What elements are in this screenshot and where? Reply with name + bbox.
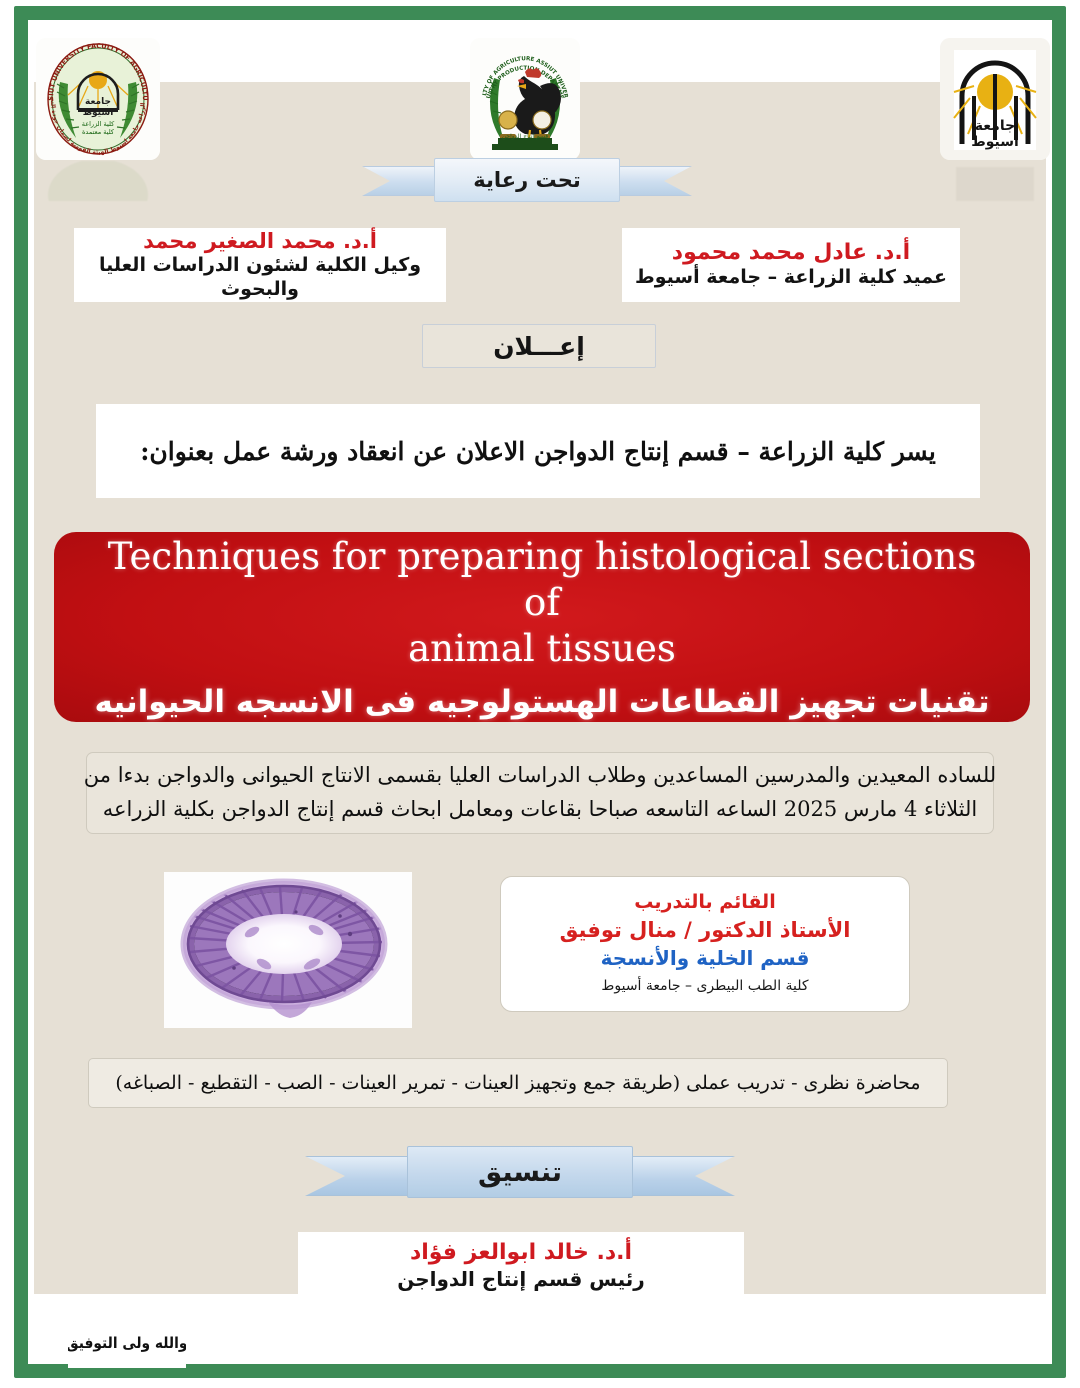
sponsor-ribbon: تحت رعاية (362, 158, 692, 204)
audience-line-2: الثلاثاء 4 مارس 2025 الساعه التاسعه صباح… (103, 793, 978, 827)
assiut-faculty-of-agriculture-logo: جامعة اسيوط كلية الزراعة كلية معتمدة ASS… (36, 38, 160, 160)
trainer-name: الأستاذ الدكتور / منال توفيق (560, 916, 851, 944)
intro-text: يسر كلية الزراعة – قسم إنتاج الدواجن الا… (140, 437, 936, 466)
assiut-university-logo: جامعة اسيوط (940, 38, 1050, 160)
trainer-role: القائم بالتدريب (634, 890, 775, 916)
svg-text:اسيوط: اسيوط (971, 134, 1019, 150)
audience-details-box: للساده المعيدين والمدرسين المساعدين وطلا… (86, 752, 994, 834)
workshop-title-english-line1: Techniques for preparing histological se… (84, 534, 1000, 627)
patron-card-vice-dean: أ.د. محمد الصغير محمد وكيل الكلية لشئون … (74, 228, 446, 302)
coordination-ribbon: تنسيق (305, 1146, 735, 1202)
workshop-title-banner: Techniques for preparing histological se… (54, 532, 1030, 722)
audience-line-1: للساده المعيدين والمدرسين المساعدين وطلا… (84, 759, 996, 793)
patron-dean-title: عميد كلية الزراعة – جامعة أسيوط (635, 266, 947, 290)
faculty-of-agriculture-seal-icon: جامعة اسيوط كلية الزراعة كلية معتمدة ASS… (36, 38, 160, 160)
announcement-plate-label: إعـــلان (493, 332, 585, 361)
patron-card-dean: أ.د. عادل محمد محمود عميد كلية الزراعة –… (622, 228, 960, 302)
poster-root: جامعة اسيوط كلية الزراعة كلية معتمدة ASS… (0, 0, 1080, 1388)
svg-text:اسيوط: اسيوط (83, 108, 114, 118)
poultry-production-department-logo: FACULTY OF AGRICULTURE ASSIUT UNIVERSITY… (470, 38, 580, 160)
coordination-ribbon-label: تنسيق (478, 1157, 562, 1188)
workshop-title-english: Techniques for preparing histological se… (84, 534, 1000, 673)
patron-vice-dean-title: وكيل الكلية لشئون الدراسات العليا والبحو… (74, 254, 446, 302)
poultry-rooster-seal-icon: FACULTY OF AGRICULTURE ASSIUT UNIVERSITY… (470, 38, 580, 160)
workshop-title-english-line2: animal tissues (84, 626, 1000, 672)
coordinator-card: أ.د. خالد ابوالعز فؤاد رئيس قسم إنتاج ال… (298, 1232, 744, 1300)
announcement-plate: إعـــلان (422, 324, 656, 368)
left-logo-reflection (36, 161, 160, 201)
calligraphy-stamp-text: والله ولى التوفيق (68, 1334, 186, 1352)
sponsor-ribbon-plate: تحت رعاية (434, 158, 620, 202)
trainer-info-card: القائم بالتدريب الأستاذ الدكتور / منال ت… (500, 876, 910, 1012)
trainer-department: قسم الخلية والأنسجة (601, 944, 810, 972)
program-text: محاضرة نظرى - تدريب عملى (طريقة جمع وتجه… (115, 1072, 920, 1094)
histology-section-photo (164, 872, 412, 1028)
calligraphy-stamp: والله ولى التوفيق (68, 1318, 186, 1368)
intestine-cross-section-image (164, 872, 412, 1028)
coordinator-title: رئيس قسم إنتاج الدواجن (397, 1267, 645, 1292)
patron-vice-dean-name: أ.د. محمد الصغير محمد (143, 229, 377, 254)
program-details-box: محاضرة نظرى - تدريب عملى (طريقة جمع وتجه… (88, 1058, 948, 1108)
coordinator-name: أ.د. خالد ابوالعز فؤاد (410, 1240, 632, 1266)
svg-text:كلية الزراعة: كلية الزراعة (82, 120, 115, 128)
sponsor-ribbon-label: تحت رعاية (473, 168, 581, 192)
right-logo-reflection (940, 161, 1050, 201)
svg-text:جامعة: جامعة (85, 97, 111, 107)
svg-text:قسم انتاج الدواجن: قسم انتاج الدواجن (502, 133, 548, 140)
svg-text:جامعة: جامعة (975, 118, 1015, 134)
coordination-ribbon-plate: تنسيق (407, 1146, 633, 1198)
assiut-university-emblem-icon: جامعة اسيوط (940, 38, 1050, 160)
intro-text-box: يسر كلية الزراعة – قسم إنتاج الدواجن الا… (96, 404, 980, 498)
patron-dean-name: أ.د. عادل محمد محمود (672, 240, 910, 266)
svg-text:كلية معتمدة: كلية معتمدة (82, 128, 115, 136)
workshop-title-arabic: تقنيات تجهيز القطاعات الهستولوجيه فى الا… (95, 684, 990, 720)
poster-content: جامعة اسيوط كلية الزراعة كلية معتمدة ASS… (0, 0, 1080, 1388)
trainer-affiliation: كلية الطب البيطرى – جامعة أسيوط (601, 975, 808, 997)
